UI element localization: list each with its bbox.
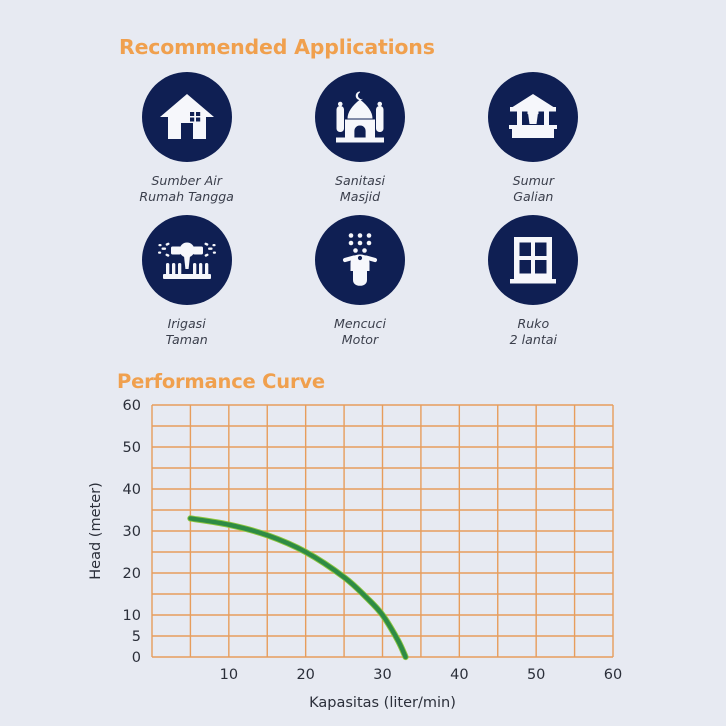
shophouse-icon — [508, 234, 558, 286]
application-label: Irigasi Taman — [166, 316, 208, 347]
x-tick-30: 30 — [373, 667, 391, 683]
application-label: Sumber Air Rumah Tangga — [139, 173, 233, 204]
x-axis-title: Kapasitas (liter/min) — [309, 695, 456, 711]
application-label: Ruko 2 lantai — [510, 316, 557, 347]
water-well-icon-circle — [488, 72, 578, 162]
poster-root: Recommended Applications Sumber Air Ruma… — [0, 0, 726, 726]
scooter-wash-icon — [337, 232, 383, 288]
y-tick-50: 50 — [123, 440, 141, 456]
application-item-sanitasi-masjid[interactable]: Sanitasi Masjid — [273, 72, 446, 215]
y-tick-40: 40 — [123, 482, 141, 498]
y-tick-60: 60 — [123, 398, 141, 414]
application-item-ruko-2-lantai[interactable]: Ruko 2 lantai — [447, 215, 620, 358]
house-icon-circle — [142, 72, 232, 162]
application-label: Mencuci Motor — [334, 316, 386, 347]
x-tick-40: 40 — [450, 667, 468, 683]
sprinkler-icon-circle — [142, 215, 232, 305]
house-icon — [159, 92, 215, 142]
performance-curve-svg: 102030405060 05102030405060 Kapasitas (l… — [0, 395, 726, 715]
recommended-applications-title: Recommended Applications — [119, 35, 435, 59]
y-tick-5: 5 — [132, 629, 141, 645]
y-tick-30: 30 — [123, 524, 141, 540]
sprinkler-icon — [157, 237, 217, 283]
y-tick-0: 0 — [132, 650, 141, 666]
x-tick-20: 20 — [296, 667, 314, 683]
application-label: Sumur Galian — [513, 173, 554, 204]
performance-curve-title: Performance Curve — [117, 370, 325, 393]
application-item-sumber-air[interactable]: Sumber Air Rumah Tangga — [100, 72, 273, 215]
shophouse-icon-circle — [488, 215, 578, 305]
water-well-icon — [505, 93, 561, 141]
mosque-icon — [332, 91, 388, 143]
x-tick-10: 10 — [220, 667, 238, 683]
x-tick-60: 60 — [604, 667, 622, 683]
applications-grid: Sumber Air Rumah Tangga — [100, 72, 620, 358]
mosque-icon-circle — [315, 72, 405, 162]
x-tick-50: 50 — [527, 667, 545, 683]
scooter-wash-icon-circle — [315, 215, 405, 305]
application-label: Sanitasi Masjid — [335, 173, 385, 204]
x-axis-tick-labels: 102030405060 — [220, 667, 623, 683]
y-axis-title: Head (meter) — [88, 482, 104, 579]
y-tick-20: 20 — [123, 566, 141, 582]
application-item-irigasi-taman[interactable]: Irigasi Taman — [100, 215, 273, 358]
application-item-sumur-galian[interactable]: Sumur Galian — [447, 72, 620, 215]
y-axis-tick-labels: 05102030405060 — [123, 398, 141, 666]
performance-curve-chart: 102030405060 05102030405060 Kapasitas (l… — [0, 395, 726, 715]
application-item-mencuci-motor[interactable]: Mencuci Motor — [273, 215, 446, 358]
y-tick-10: 10 — [123, 608, 141, 624]
